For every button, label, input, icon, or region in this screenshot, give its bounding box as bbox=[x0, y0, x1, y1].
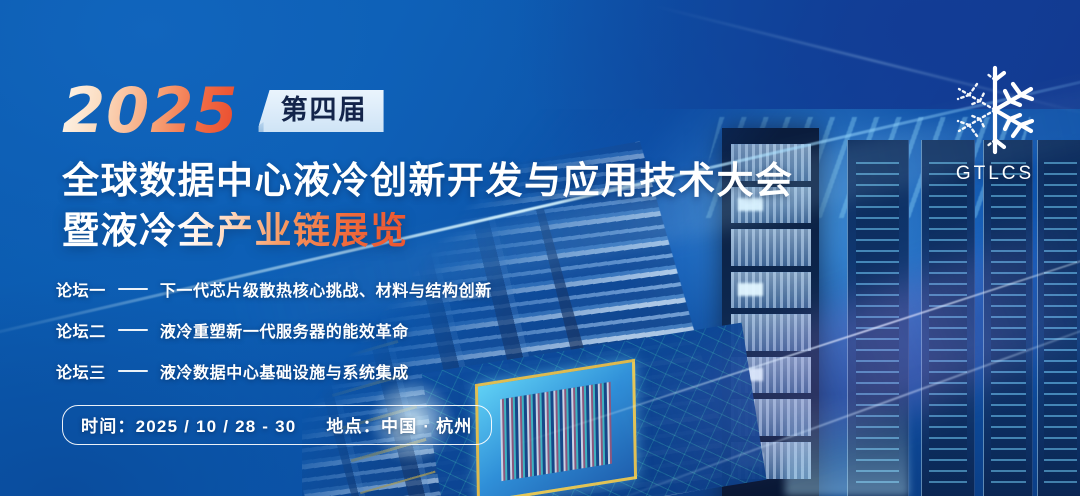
list-item: 论坛一 下一代芯片级散热核心挑战、材料与结构创新 bbox=[56, 277, 492, 301]
banner-content: 2025 第四届 全球数据中心液冷创新开发与应用技术大会 暨液冷全产业链展览 论… bbox=[0, 0, 1080, 496]
forum-list: 论坛一 下一代芯片级散热核心挑战、材料与结构创新 论坛二 液冷重塑新一代服务器的… bbox=[56, 277, 492, 400]
forum-label: 论坛二 bbox=[56, 318, 106, 342]
logo-wordmark: GTLCS bbox=[938, 163, 1052, 185]
year-and-edition: 2025 第四届 bbox=[62, 80, 384, 142]
forum-dash-icon bbox=[118, 288, 148, 290]
event-location: 地点：中国 · 杭州 bbox=[326, 412, 472, 437]
forum-topic: 液冷数据中心基础设施与系统集成 bbox=[160, 359, 409, 383]
edition-badge: 第四届 bbox=[259, 90, 384, 132]
event-meta-bar: 时间：2025 / 10 / 28 - 30 地点：中国 · 杭州 bbox=[62, 405, 492, 445]
forum-label: 论坛三 bbox=[56, 359, 106, 383]
list-item: 论坛二 液冷重塑新一代服务器的能效革命 bbox=[56, 318, 492, 342]
event-date: 时间：2025 / 10 / 28 - 30 bbox=[81, 412, 296, 437]
conference-banner: 2025 第四届 全球数据中心液冷创新开发与应用技术大会 暨液冷全产业链展览 论… bbox=[0, 0, 1080, 496]
forum-label: 论坛一 bbox=[56, 277, 106, 301]
gtlcs-logo: GTLCS bbox=[938, 62, 1052, 185]
forum-dash-icon bbox=[118, 370, 148, 372]
forum-dash-icon bbox=[118, 329, 148, 331]
page-title-line1: 全球数据中心液冷创新开发与应用技术大会 bbox=[62, 162, 794, 199]
forum-topic: 下一代芯片级散热核心挑战、材料与结构创新 bbox=[160, 277, 492, 301]
page-title-line2: 暨液冷全产业链展览 bbox=[62, 212, 409, 249]
forum-topic: 液冷重塑新一代服务器的能效革命 bbox=[160, 318, 409, 342]
list-item: 论坛三 液冷数据中心基础设施与系统集成 bbox=[56, 359, 492, 383]
snowflake-icon bbox=[947, 62, 1043, 158]
year-2025: 2025 bbox=[62, 80, 243, 142]
